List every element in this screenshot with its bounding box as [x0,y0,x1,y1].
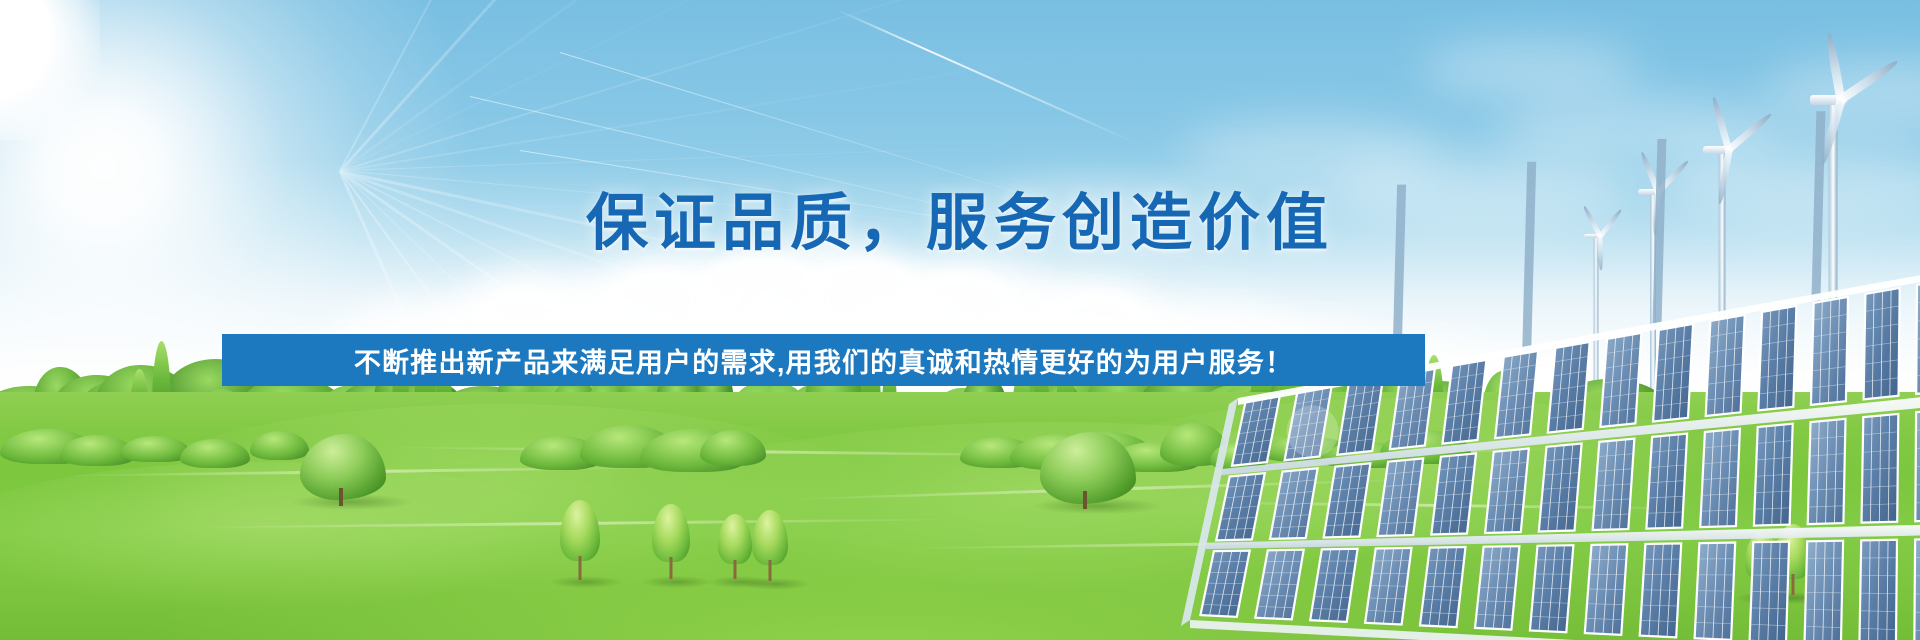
sapling-tree [718,514,752,578]
subtitle-banner: 不断推出新产品来满足用户的需求,用我们的真诚和热情更好的为用户服务！ [222,334,1425,386]
page-title: 保证品质，服务创造价值 [0,172,1920,262]
hero-banner: 保证品质，服务创造价值 不断推出新产品来满足用户的需求,用我们的真诚和热情更好的… [0,0,1920,640]
panel-sun-reflection [1287,405,1339,457]
sapling-crown [752,510,788,565]
solar-module [1915,409,1920,521]
cloud-puff [1420,40,1640,98]
tree-trunk [1083,491,1087,509]
tree-trunk [339,488,343,506]
sapling-trunk [579,556,582,579]
sapling-trunk [734,560,737,579]
subtitle-text: 不断推出新产品来满足用户的需求,用我们的真诚和热情更好的为用户服务！ [354,341,1293,380]
sapling-tree [560,500,600,578]
sapling-crown [652,504,690,562]
sapling-trunk [769,560,772,581]
solar-module [1916,279,1920,394]
sapling-tree [652,504,690,578]
sapling-crown [718,514,752,564]
sapling-tree [752,510,788,580]
solar-module [1914,539,1920,640]
sapling-trunk [670,557,673,579]
sapling-crown [560,500,600,561]
